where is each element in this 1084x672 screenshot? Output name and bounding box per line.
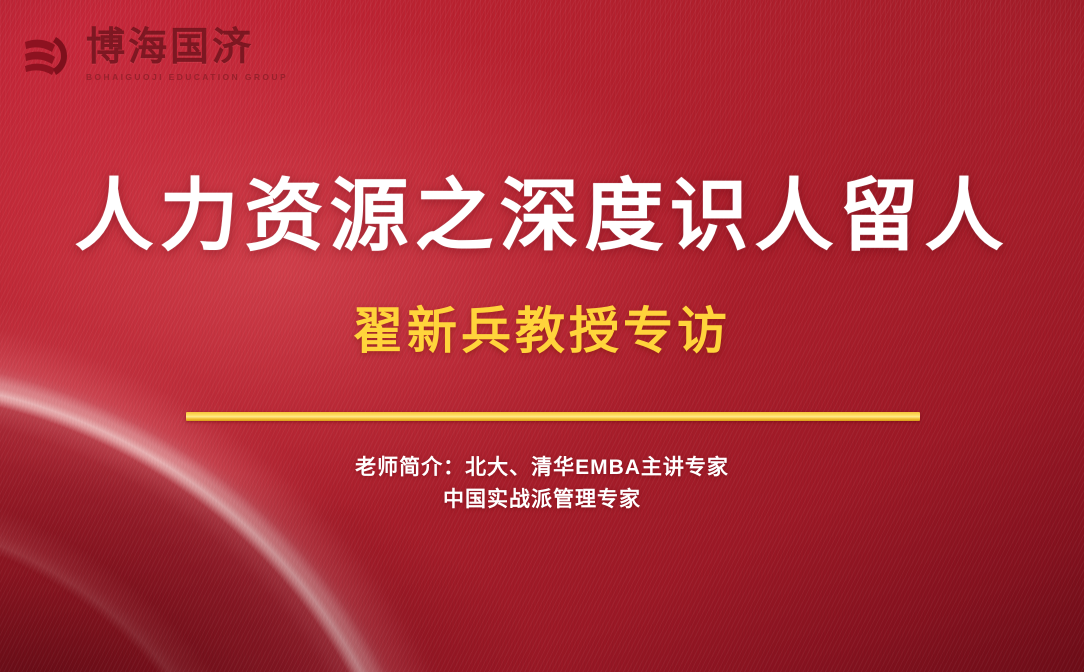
logo-english-name: BOHAIGUOJI EDUCATION GROUP [86,72,288,82]
page-subtitle: 翟新兵教授专访 [0,304,1084,359]
background-arc-sweep [0,70,740,672]
bio-line-1: 老师简介：北大、清华EMBA主讲专家 [0,452,1084,484]
logo-chinese-name: 博海国济 [86,28,288,67]
speaker-bio: 老师简介：北大、清华EMBA主讲专家 中国实战派管理专家 [0,452,1084,516]
logo-wordmark: 博海国济 BOHAIGUOJI EDUCATION GROUP [86,28,288,82]
bio-line-2: 中国实战派管理专家 [0,484,1084,516]
brand-logo: 博海国济 BOHAIGUOJI EDUCATION GROUP [22,28,288,82]
page-title: 人力资源之深度识人留人 [0,174,1084,258]
gold-divider-line [186,412,920,421]
headline-block: 人力资源之深度识人留人 翟新兵教授专访 [0,174,1084,359]
bohai-guoji-logo-mark-icon [22,29,74,81]
presentation-slide: 博海国济 BOHAIGUOJI EDUCATION GROUP 人力资源之深度识… [0,0,1084,672]
